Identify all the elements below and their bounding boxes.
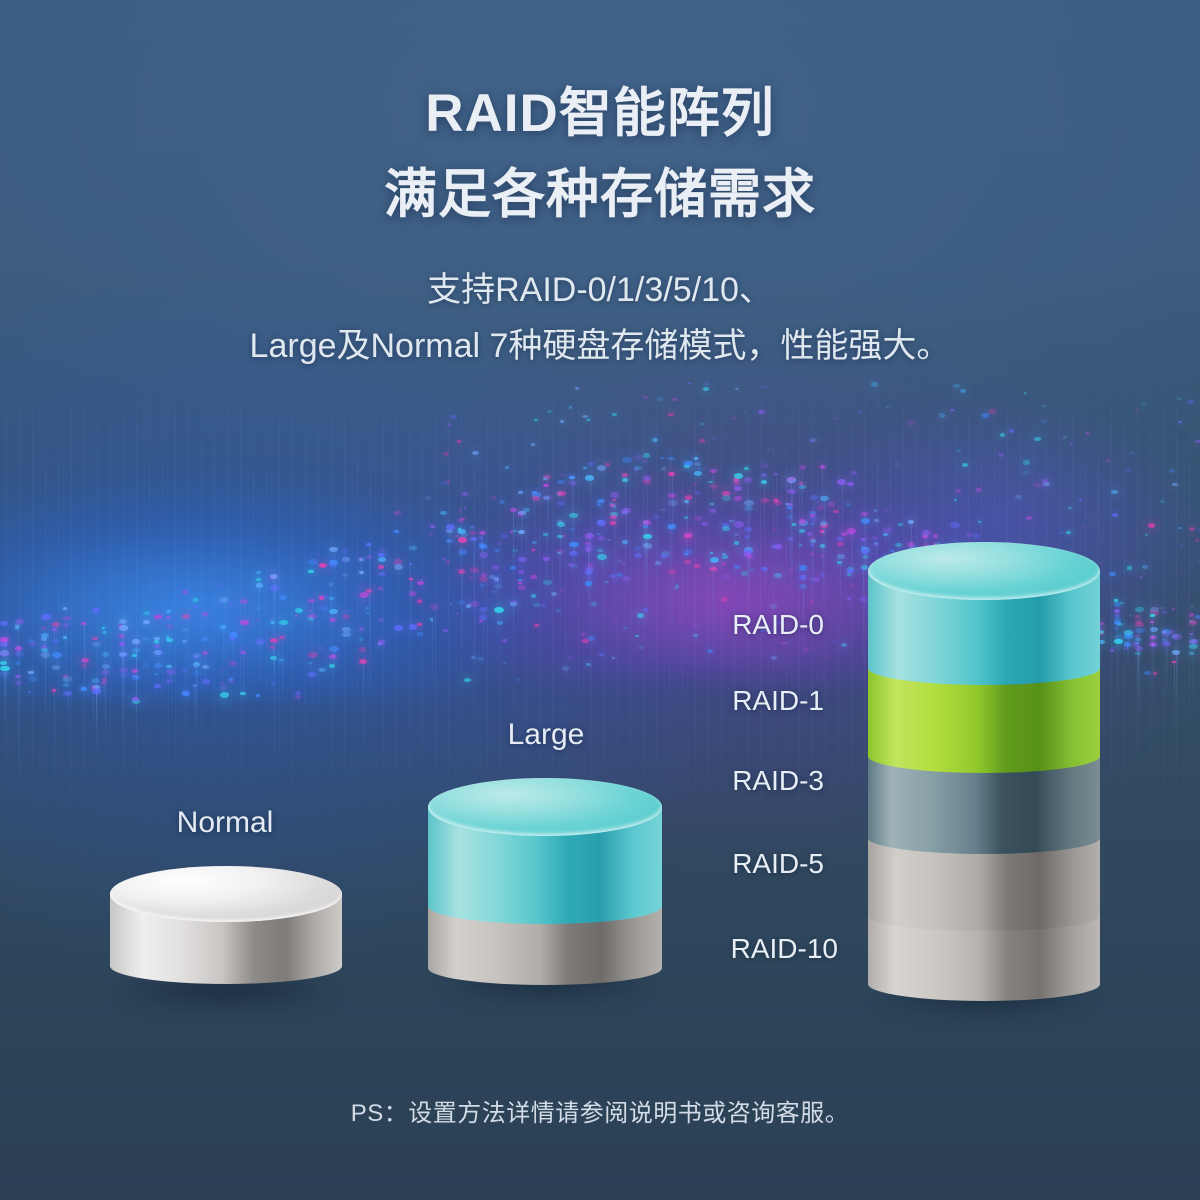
promo-banner: RAID智能阵列 满足各种存储需求 支持RAID-0/1/3/5/10、 Lar… [0,0,1200,1200]
stack-label-large: Large [430,718,662,752]
cylinder-normal [110,866,342,996]
raid-label-1: RAID-1 [570,685,824,717]
raid-label-5: RAID-5 [570,848,824,880]
raid-label-10: RAID-10 [570,933,838,965]
cylinder-top-cap-normal [110,866,342,922]
footnote-text: PS：设置方法详情请参阅说明书或咨询客服。 [0,1093,1200,1128]
cylinder-raid-stack [868,542,1100,1004]
glow-blue-left [0,470,560,700]
page-title-line1: RAID智能阵列 [0,84,1200,144]
stack-label-normal: Normal [110,806,340,840]
raid-label-3: RAID-3 [570,765,824,797]
page-title-line2: 满足各种存储需求 [0,165,1200,225]
raid-label-0: RAID-0 [570,609,824,641]
subtitle-line2: Large及Normal 7种硬盘存储模式，性能强大。 [0,324,1200,368]
cylinder-top-cap-raid [868,542,1100,600]
subtitle-line1: 支持RAID-0/1/3/5/10、 [0,268,1200,312]
